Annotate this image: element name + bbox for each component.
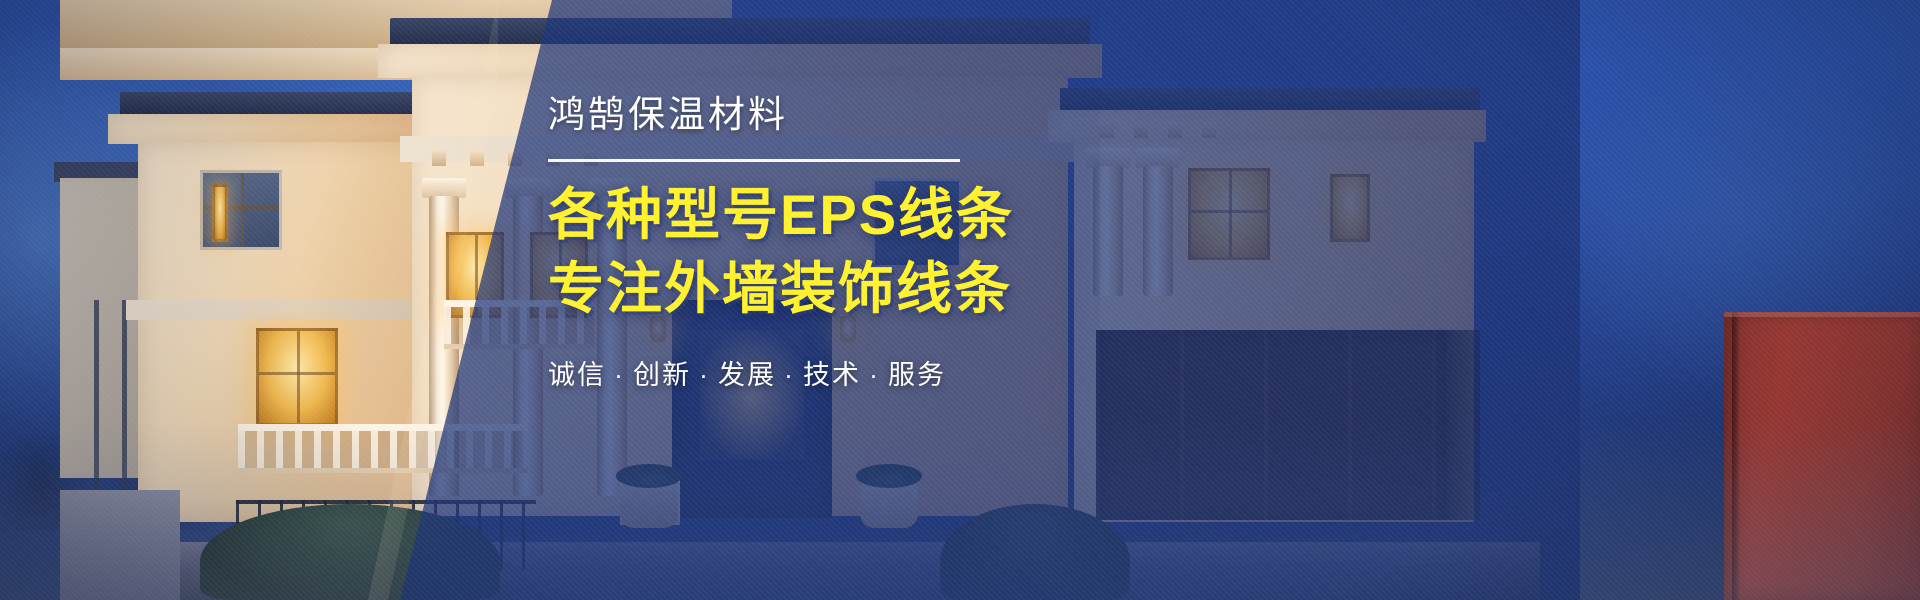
hero-copy: 鸿鹄保温材料 各种型号EPS线条 专注外墙装饰线条 诚信·创新·发展·技术·服务 xyxy=(548,96,1448,392)
divider-rule xyxy=(548,159,960,162)
window-lit-narrow xyxy=(212,184,228,242)
tagline-separator: · xyxy=(776,360,803,390)
dentil xyxy=(432,150,446,166)
tagline-item: 诚信 xyxy=(548,360,606,390)
headline-line-2: 专注外墙装饰线条 xyxy=(548,252,1448,326)
tagline-separator: · xyxy=(606,360,633,390)
window-mullion xyxy=(259,372,335,375)
left-wing-cornice xyxy=(108,114,448,144)
window-mullion xyxy=(297,331,300,423)
tagline-separator: · xyxy=(691,360,718,390)
tagline: 诚信·创新·发展·技术·服务 xyxy=(548,353,1448,392)
window-mullion xyxy=(241,173,244,247)
headline: 各种型号EPS线条 专注外墙装饰线条 xyxy=(548,178,1448,327)
tagline-item: 发展 xyxy=(718,360,776,390)
tagline-item: 技术 xyxy=(803,360,861,390)
tagline-item: 创新 xyxy=(633,360,691,390)
left-wing-band xyxy=(126,300,450,320)
headline-line-1: 各种型号EPS线条 xyxy=(548,183,1014,246)
hero-banner: 鸿鹄保温材料 各种型号EPS线条 专注外墙装饰线条 诚信·创新·发展·技术·服务 xyxy=(0,0,1920,600)
tagline-item: 服务 xyxy=(888,360,946,390)
brand-name: 鸿鹄保温材料 xyxy=(548,96,1448,133)
tagline-separator: · xyxy=(861,360,888,390)
window-lit xyxy=(256,328,338,426)
